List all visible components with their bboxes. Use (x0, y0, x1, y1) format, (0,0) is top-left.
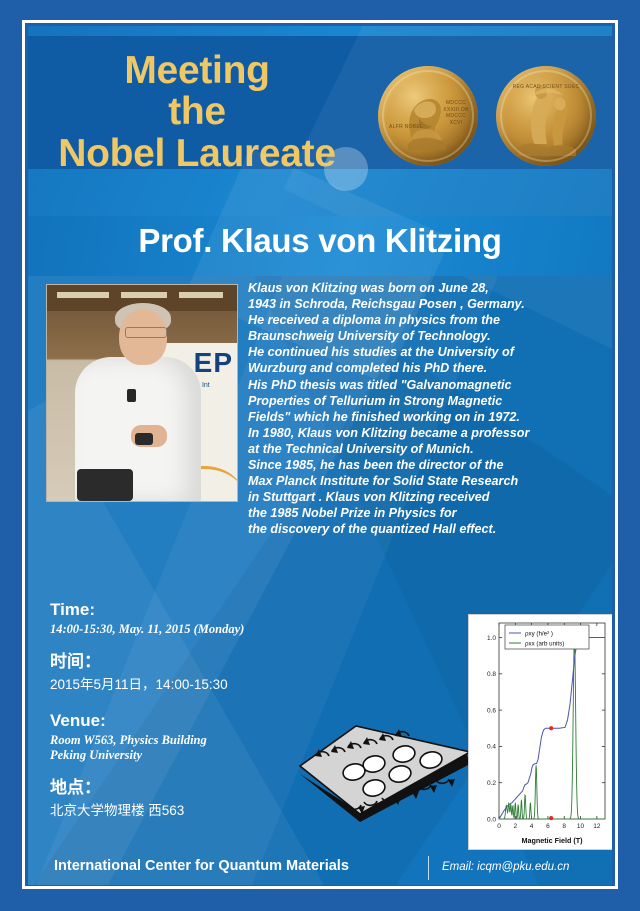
quantum-hall-chart: 0246810120.00.20.40.60.81.0Magnetic Fiel… (468, 614, 612, 850)
time-label-cn: 时间： (50, 647, 330, 672)
svg-text:ρxy (h/e² ): ρxy (h/e² ) (525, 630, 553, 637)
time-label-en: Time: (50, 600, 330, 620)
time-value-en: 14:00-15:30, May. 11, 2015 (Monday) (50, 622, 330, 637)
poster-inner: Meeting the Nobel Laureate (28, 26, 612, 885)
medal-right-caption: REG ACAD SCIENT SUEC (506, 84, 586, 90)
svg-text:10: 10 (577, 823, 585, 830)
svg-text:0.0: 0.0 (487, 816, 496, 823)
title-line-1: Meeting (28, 50, 366, 91)
svg-text:4: 4 (530, 823, 534, 830)
speaker-name: Prof. Klaus von Klitzing (28, 222, 612, 260)
poster: Meeting the Nobel Laureate (0, 0, 640, 911)
title-line-3: Nobel Laureate (28, 133, 366, 174)
footer-organization: International Center for Quantum Materia… (54, 858, 349, 874)
photo-banner-title: EP (194, 347, 233, 379)
svg-text:Magnetic Field (T): Magnetic Field (T) (521, 836, 583, 845)
venue-label-en: Venue: (50, 711, 330, 731)
time-value-cn: 2015年5月11日，14:00-15:30 (50, 676, 330, 693)
svg-text:2: 2 (513, 823, 517, 830)
chart-canvas: 0246810120.00.20.40.60.81.0Magnetic Fiel… (469, 615, 612, 849)
medal-left-caption: ALFR NOBEL (389, 124, 423, 130)
quantum-hall-slab-illustration (296, 718, 474, 840)
svg-text:0.6: 0.6 (487, 707, 496, 714)
poster-title: Meeting the Nobel Laureate (28, 50, 366, 174)
footer-email: Email: icqm@pku.edu.cn (442, 861, 569, 873)
venue-value-en-line1: Room W563, Physics Building (50, 733, 330, 748)
biography-text: Klaus von Klitzing was born on June 28, … (248, 280, 600, 538)
speaker-photo: EP The 4th Int Eme in Qu (46, 284, 238, 502)
event-info: Time: 14:00-15:30, May. 11, 2015 (Monday… (50, 598, 330, 819)
svg-text:0.2: 0.2 (487, 780, 496, 787)
svg-text:8: 8 (562, 823, 566, 830)
svg-text:1.0: 1.0 (487, 635, 496, 642)
venue-value-en-line2: Peking University (50, 748, 330, 763)
svg-text:12: 12 (593, 823, 601, 830)
venue-label-cn: 地点： (50, 773, 330, 798)
svg-text:0.4: 0.4 (487, 744, 496, 751)
title-line-2: the (28, 91, 366, 132)
svg-text:0.8: 0.8 (487, 671, 496, 678)
svg-text:ρxx (arb units): ρxx (arb units) (525, 640, 564, 647)
nobel-medal-reverse-icon: REG ACAD SCIENT SUEC (496, 66, 596, 166)
nobel-medal-obverse-icon: ALFR NOBEL MDCCC XXXIII OB MDCCC XCVI (378, 66, 478, 166)
venue-value-cn: 北京大学物理楼 西563 (50, 802, 330, 819)
medal-left-caption-2: MDCCC XXXIII OB MDCCC XCVI (440, 100, 472, 126)
svg-text:6: 6 (546, 823, 550, 830)
footer-divider (428, 856, 429, 880)
svg-text:0: 0 (497, 823, 501, 830)
